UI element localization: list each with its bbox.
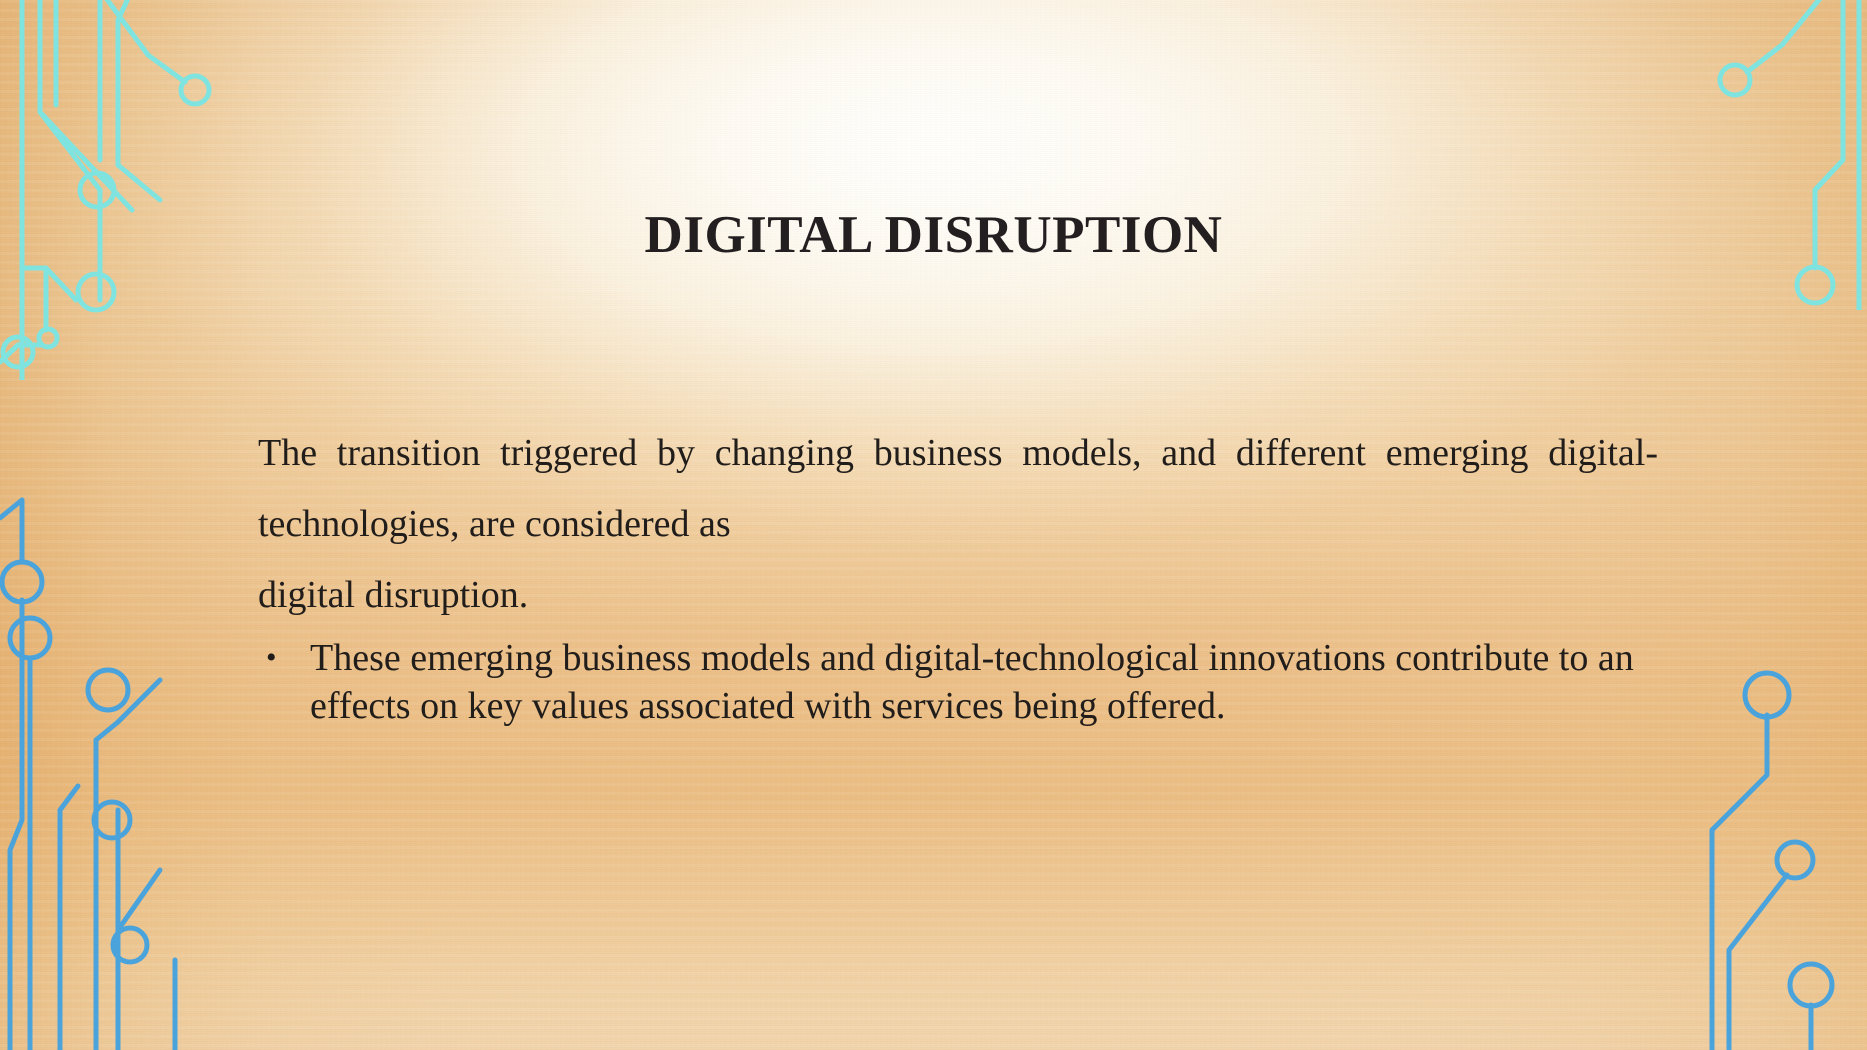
intro-paragraph: The transition triggered by changing bus… [258,418,1658,631]
list-item-text: These emerging business models and digit… [310,637,1634,727]
intro-paragraph-line-3: digital disruption. [258,560,1658,631]
list-item: • These emerging business models and dig… [258,635,1658,731]
bullet-marker-icon: • [266,635,277,682]
title-container: DIGITAL DISRUPTION [0,170,1867,299]
slide-title: DIGITAL DISRUPTION [645,206,1223,264]
slide-canvas: DIGITAL DISRUPTION The transition trigge… [0,0,1867,1050]
body-container: The transition triggered by changing bus… [258,418,1658,731]
bullet-list: • These emerging business models and dig… [258,635,1658,731]
intro-paragraph-line-1: The transition triggered by changing bus… [258,432,1216,474]
